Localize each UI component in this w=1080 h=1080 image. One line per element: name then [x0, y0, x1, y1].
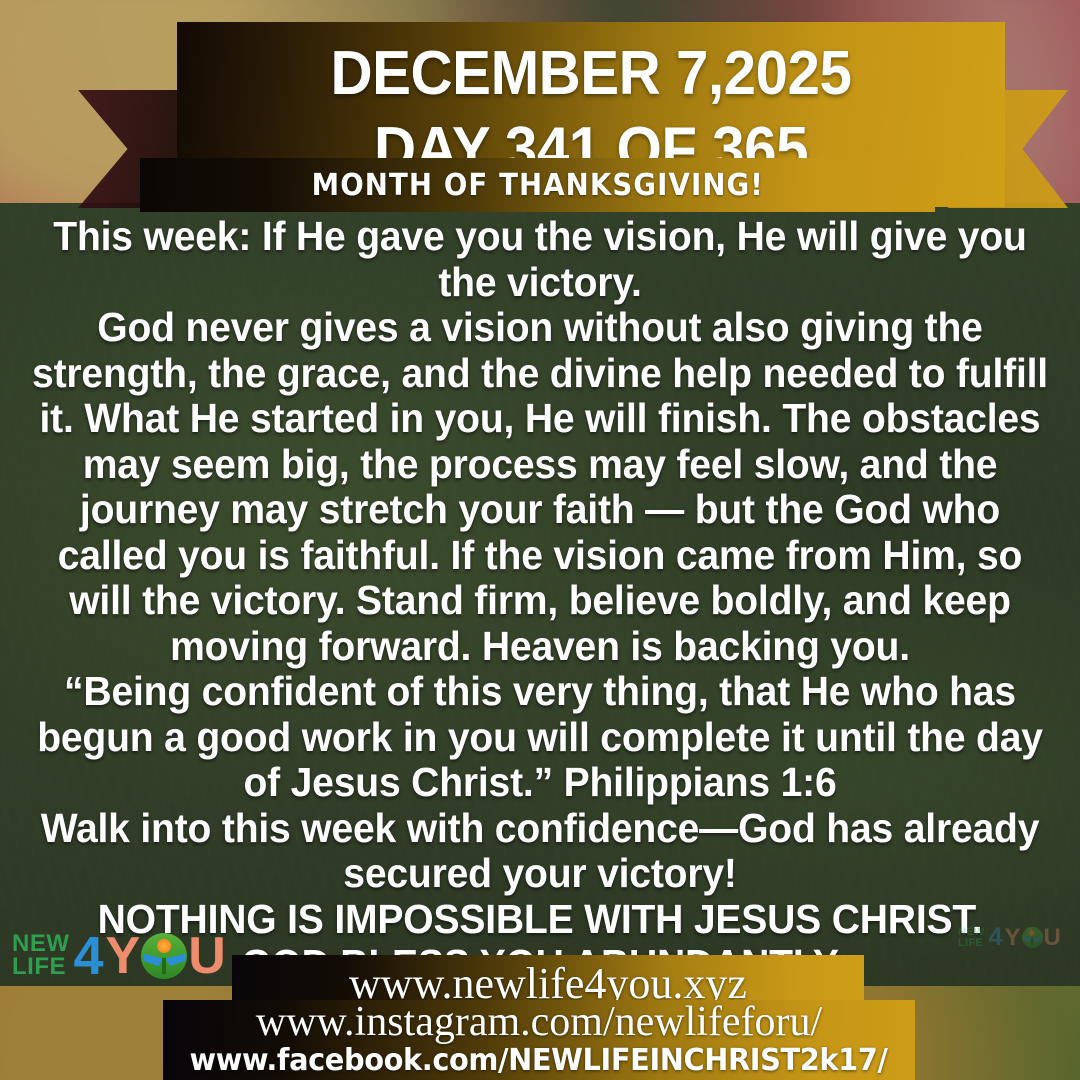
body-paragraph-1: This week: If He gave you the vision, He… [27, 214, 1054, 305]
brand-logo-left: NEW LIFE 4 Y U [12, 925, 226, 987]
sun-icon-right [1029, 930, 1035, 936]
header-date: DECEMBER 7,2025 [202, 22, 980, 112]
leaf-left-icon-right [1023, 936, 1032, 942]
leaf-left-icon [144, 952, 163, 966]
sub-banner: MONTH OF THANKSGIVING! [140, 158, 935, 212]
logo-letter-u-right: U [1044, 924, 1061, 952]
facebook-url[interactable]: www.facebook.com/NEWLIFEINCHRIST2k17/ [190, 1044, 888, 1078]
body-paragraph-4: Walk into this week with confidence—God … [27, 806, 1054, 897]
brand-logo-right: NEW LIFE 4 Y U [958, 923, 1061, 952]
sun-icon [157, 939, 171, 953]
body-paragraph-3: “Being confident of this very thing, tha… [27, 669, 1054, 806]
logo-letter-y: Y [106, 926, 141, 986]
logo-word-life-right: LIFE [958, 938, 985, 948]
logo-word-you: Y U [106, 926, 226, 986]
body-paragraph-2: God never gives a vision without also gi… [27, 305, 1054, 669]
poster-canvas: DECEMBER 7,2025 DAY 341 OF 365 MONTH OF … [0, 0, 1080, 1080]
devotional-body: This week: If He gave you the vision, He… [8, 214, 1072, 988]
social-url-banner: www.instagram.com/newlifeforu/ www.faceb… [163, 1000, 915, 1080]
sub-banner-label: MONTH OF THANKSGIVING! [311, 168, 763, 203]
leaf-right-icon [166, 952, 185, 966]
instagram-url[interactable]: www.instagram.com/newlifeforu/ [256, 1000, 822, 1044]
logo-digit-four-right: 4 [989, 923, 1003, 952]
stem-icon-right [1031, 938, 1033, 946]
logo-word-life: LIFE [12, 956, 70, 979]
logo-word-new-right: NEW [958, 927, 985, 937]
logo-letter-u: U [188, 926, 226, 986]
leaf-right-icon-right [1033, 936, 1042, 942]
sunrise-plant-emblem-icon [141, 933, 187, 979]
logo-digit-four: 4 [74, 925, 104, 987]
sunrise-plant-emblem-icon-right [1022, 927, 1043, 948]
stem-icon [162, 958, 166, 975]
logo-word-you-right: Y U [1004, 924, 1060, 952]
logo-newlife-wordmark: NEW LIFE [12, 933, 70, 979]
logo-letter-y-right: Y [1004, 924, 1020, 952]
logo-newlife-wordmark-right: NEW LIFE [958, 927, 985, 948]
